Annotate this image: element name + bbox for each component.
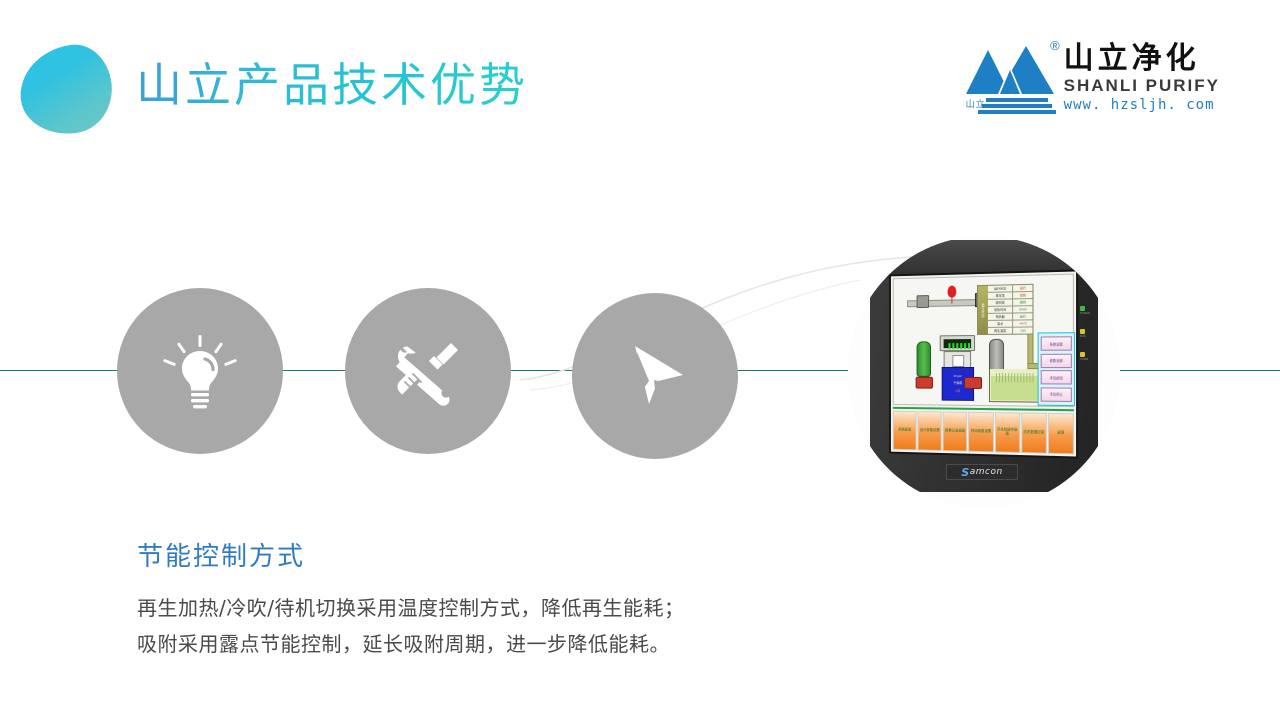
table-row: 再生温度 180 bbox=[988, 327, 1033, 333]
tower-a-icon bbox=[917, 341, 931, 376]
dryer-label-3: A塔 bbox=[943, 389, 973, 393]
status-value: 吸附 bbox=[1013, 299, 1032, 305]
hmi-status-table: 运行状态 运行状态 运行 再生塔 加热 bbox=[977, 284, 1033, 335]
hmi-bottom-button[interactable]: 返回 bbox=[1048, 413, 1074, 454]
page-title: 山立产品技术优势 bbox=[136, 60, 528, 111]
status-value: 0000 bbox=[1013, 306, 1032, 312]
status-value: 加热 bbox=[1013, 292, 1032, 298]
digital-meter bbox=[940, 335, 975, 351]
brand-name-en: SHANLI PURIFY bbox=[1064, 76, 1220, 96]
hmi-bottom-button[interactable]: 系统画面 bbox=[893, 411, 917, 451]
pressure-gauge-icon bbox=[948, 286, 957, 298]
status-key: 加热时间 bbox=[988, 306, 1013, 312]
status-value: -40℃ bbox=[1013, 320, 1032, 326]
status-key: 预热器 bbox=[988, 314, 1013, 320]
decorative-blob bbox=[14, 40, 117, 140]
registered-trademark-icon: ® bbox=[1050, 38, 1060, 53]
hmi-panel-photo: Dryer 干燥塔 A塔 运行状态 bbox=[848, 236, 1120, 508]
status-key: 吸附塔 bbox=[988, 299, 1013, 305]
status-key: 运行状态 bbox=[988, 285, 1013, 292]
body-line-2: 吸附采用露点节能控制，延长吸附周期，进一步降低能耗。 bbox=[137, 626, 837, 662]
brand-url: www. hzsljh. com bbox=[1064, 97, 1220, 114]
body-line-1: 再生加热/冷吹/待机切换采用温度控制方式，降低再生能耗； bbox=[137, 590, 837, 626]
hmi-process-diagram: Dryer 干燥塔 A塔 运行状态 bbox=[893, 274, 1074, 408]
hmi-screen[interactable]: Dryer 干燥塔 A塔 运行状态 bbox=[889, 269, 1078, 458]
status-key: 再生塔 bbox=[988, 292, 1013, 299]
status-table-title-bar: 运行状态 bbox=[978, 286, 988, 334]
status-value: 运行 bbox=[1013, 285, 1032, 291]
lightbulb-icon bbox=[158, 329, 242, 413]
hmi-side-button[interactable]: 系统设置 bbox=[1041, 337, 1072, 351]
cursor-arrow-icon bbox=[613, 334, 697, 418]
comm-led-icon bbox=[1080, 352, 1085, 357]
valve-b-icon bbox=[964, 377, 982, 389]
status-value: 运行 bbox=[1013, 313, 1032, 319]
power-led-label: POWER bbox=[1080, 312, 1094, 315]
mountain-logo-icon: ® 山立 bbox=[964, 36, 1056, 120]
logo-mark-label: 山立 bbox=[966, 97, 986, 110]
hmi-brand-initial: S bbox=[961, 466, 969, 479]
status-table-title: 运行状态 bbox=[981, 303, 986, 318]
hmi-led-strip: POWER RUN COMM bbox=[1080, 306, 1094, 361]
hmi-side-button[interactable]: 参数设置 bbox=[1041, 354, 1072, 368]
brand-name-cn: 山立净化 bbox=[1064, 44, 1220, 74]
feature-circle-idea[interactable] bbox=[117, 288, 283, 454]
inlet-valve-icon bbox=[917, 295, 929, 308]
hmi-side-button-panel: 系统设置 参数设置 手动启动 手动停止 bbox=[1038, 332, 1075, 406]
feature-circle-cursor[interactable] bbox=[572, 293, 738, 459]
feature-circle-tools[interactable] bbox=[345, 288, 511, 454]
brand-logo: ® 山立 山立净化 SHANLI PURIFY www. hzsljh. com bbox=[964, 36, 1220, 122]
tower-b-icon bbox=[989, 339, 1004, 373]
hmi-bottom-button[interactable]: 历史数据记录 bbox=[1021, 413, 1047, 454]
run-led-label: RUN bbox=[1080, 335, 1094, 338]
status-key: 再生温度 bbox=[988, 328, 1013, 334]
hmi-brand-name: amcon bbox=[970, 467, 1003, 477]
hmi-bottom-button[interactable]: 运行参数设置 bbox=[918, 411, 942, 451]
hmi-bottom-button-row: 系统画面 运行参数设置 报警记录画面 时间参数设置 开关机操作画面 历史数据记录… bbox=[893, 407, 1074, 455]
hmi-bottom-button[interactable]: 开关机操作画面 bbox=[995, 412, 1020, 453]
section-body: 再生加热/冷吹/待机切换采用温度控制方式，降低再生能耗； 吸附采用露点节能控制，… bbox=[137, 590, 837, 662]
hmi-bottom-button[interactable]: 时间参数设置 bbox=[969, 412, 994, 452]
section-heading: 节能控制方式 bbox=[137, 536, 305, 573]
status-value: 180 bbox=[1013, 327, 1032, 333]
status-key: 露点 bbox=[988, 321, 1013, 327]
power-led-icon bbox=[1080, 306, 1085, 311]
hmi-bottom-button[interactable]: 报警记录画面 bbox=[943, 411, 968, 451]
run-led-icon bbox=[1080, 329, 1085, 334]
hmi-side-button[interactable]: 手动启动 bbox=[1041, 370, 1072, 384]
slide-root: 山立产品技术优势 ® 山立 山立净化 SHANLI PURIFY www. hz… bbox=[0, 0, 1280, 720]
comm-led-label: COMM bbox=[1080, 358, 1094, 361]
tools-icon bbox=[385, 328, 471, 414]
hmi-side-button[interactable]: 手动停止 bbox=[1041, 387, 1072, 402]
valve-a-icon bbox=[916, 377, 933, 389]
hmi-brand-badge: S amcon bbox=[946, 464, 1018, 480]
